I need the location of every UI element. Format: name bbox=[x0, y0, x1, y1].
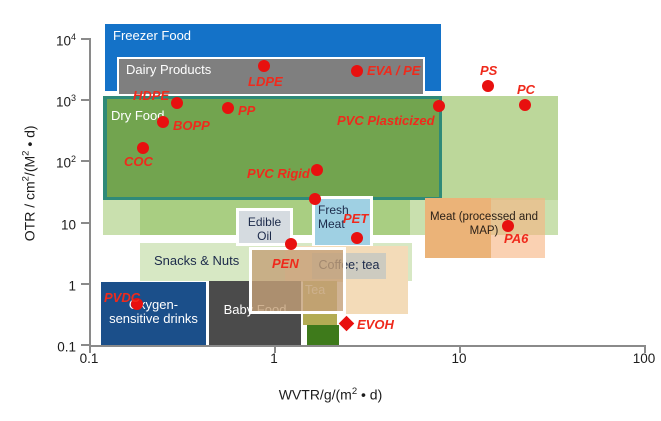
region-label-freezer-food: Freezer Food bbox=[113, 29, 191, 43]
y-axis-title-sup2: 2 bbox=[21, 151, 32, 156]
datapoint-pet bbox=[309, 193, 321, 205]
datapoint-pc bbox=[519, 99, 531, 111]
datapoint-hdpe bbox=[171, 97, 183, 109]
datapoint-label-hdpe: HDPE bbox=[133, 88, 169, 103]
y-axis-title-prefix: OTR / cm bbox=[21, 181, 37, 241]
datapoint-pvc-rigid bbox=[311, 164, 323, 176]
region-edible-oil: Edible Oil bbox=[236, 208, 293, 246]
y-axis-title-suffix: • d) bbox=[21, 125, 37, 150]
datapoint-label-pa6: PA6 bbox=[504, 231, 528, 246]
datapoint-label-coc: COC bbox=[124, 154, 153, 169]
y-tick-base: 10 bbox=[56, 34, 71, 49]
datapoint-label-pvc-plasticized: PVC Plasticized bbox=[337, 113, 435, 128]
datapoint-bopp bbox=[157, 116, 169, 128]
chart-root: Freezer Food Dairy Products Dry Food Sna… bbox=[0, 0, 661, 421]
y-tick-base: 10 bbox=[56, 156, 71, 171]
datapoint-label-pvc-rigid: PVC Rigid bbox=[247, 166, 310, 181]
datapoint-label-pet: PET bbox=[343, 211, 368, 226]
x-axis-title-prefix: WVTR/g/(m bbox=[279, 387, 352, 403]
region-meat-map: Meat (processed and MAP) bbox=[425, 198, 545, 258]
datapoint-pvc-plasticized bbox=[433, 100, 445, 112]
y-tick-10 bbox=[81, 222, 90, 224]
datapoint-pp bbox=[222, 102, 234, 114]
region-label-snacks-nuts: Snacks & Nuts bbox=[154, 254, 239, 268]
y-axis-title-sup1: 2 bbox=[21, 176, 32, 181]
datapoint-label-ps: PS bbox=[480, 63, 497, 78]
y-tick-label-10000: 104 bbox=[16, 31, 76, 48]
datapoint-ldpe bbox=[258, 60, 270, 72]
x-tick-label-10: 10 bbox=[429, 351, 489, 366]
datapoint-label-ldpe: LDPE bbox=[248, 74, 283, 89]
datapoint-label-bopp: BOPP bbox=[173, 118, 210, 133]
y-tick-base: 10 bbox=[56, 95, 71, 110]
datapoint-pen bbox=[285, 238, 297, 250]
y-tick-base: 10 bbox=[61, 218, 76, 233]
y-axis-title: OTR / cm2/(M2 • d) bbox=[21, 68, 38, 298]
y-tick-1000 bbox=[81, 99, 90, 101]
datapoint-label-pvdc: PVDC bbox=[104, 290, 140, 305]
y-tick-exp: 2 bbox=[71, 154, 76, 164]
datapoint-label-eva-pe: EVA / PE bbox=[367, 63, 420, 78]
y-tick-exp: 3 bbox=[71, 93, 76, 103]
y-axis-title-mid: /(M bbox=[21, 156, 37, 176]
datapoint-label-evoh: EVOH bbox=[357, 317, 394, 332]
y-axis-line bbox=[89, 38, 91, 346]
y-tick-exp: 4 bbox=[71, 32, 76, 42]
datapoint-pet-2 bbox=[351, 232, 363, 244]
datapoint-eva-pe bbox=[351, 65, 363, 77]
datapoint-ps bbox=[482, 80, 494, 92]
region-label-dairy-products: Dairy Products bbox=[126, 63, 211, 77]
datapoint-label-pp: PP bbox=[238, 103, 255, 118]
datapoint-label-pen: PEN bbox=[272, 256, 299, 271]
x-axis-line bbox=[89, 345, 646, 347]
y-tick-10000 bbox=[81, 38, 90, 40]
y-tick-100 bbox=[81, 160, 90, 162]
x-tick-label-0-1: 0.1 bbox=[59, 351, 119, 366]
region-label-edible-oil: Edible Oil bbox=[239, 215, 290, 243]
datapoint-evoh bbox=[339, 316, 355, 332]
x-tick-label-100: 100 bbox=[614, 351, 661, 366]
x-axis-title-suffix: • d) bbox=[357, 387, 382, 403]
datapoint-coc bbox=[137, 142, 149, 154]
x-tick-label-1: 1 bbox=[244, 351, 304, 366]
y-tick-1 bbox=[81, 283, 90, 285]
x-axis-title: WVTR/g/(m2 • d) bbox=[0, 386, 661, 403]
y-tick-base: 1 bbox=[68, 279, 76, 294]
datapoint-label-pc: PC bbox=[517, 82, 535, 97]
region-tea-lower bbox=[307, 325, 339, 345]
